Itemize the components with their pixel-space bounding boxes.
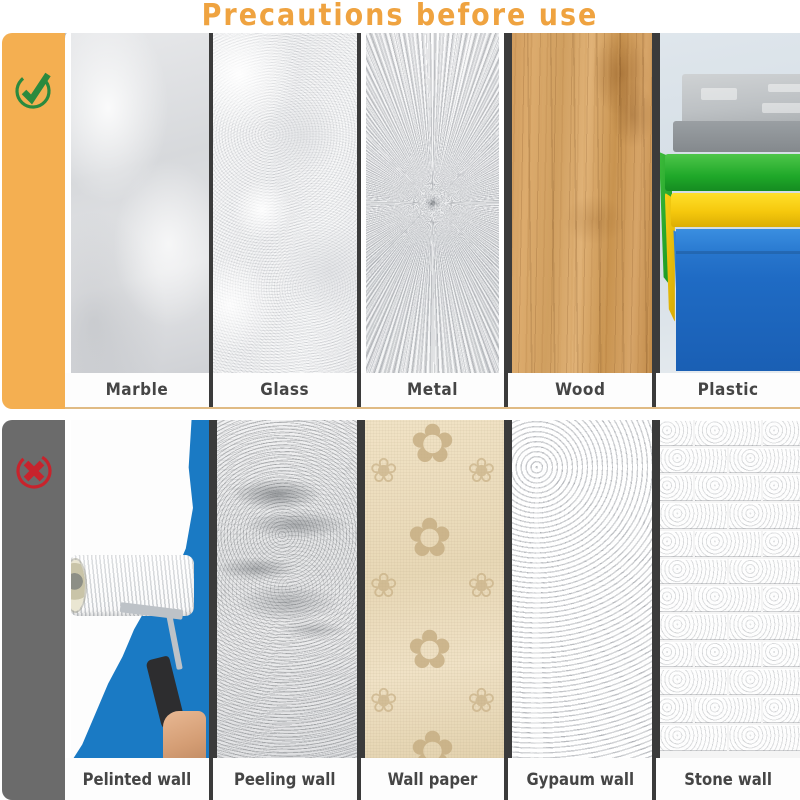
label-glass: Glass <box>213 373 357 407</box>
wood-frame <box>508 33 652 373</box>
label-wood: Wood <box>508 373 652 407</box>
swatch-stone-wall <box>656 420 800 758</box>
swatch-plastic <box>656 33 800 373</box>
plastic-frame <box>656 33 800 373</box>
swatch-wood <box>508 33 652 373</box>
peeling-wall-frame <box>213 420 357 758</box>
gypsum-wall-frame <box>508 420 652 758</box>
label-plastic: Plastic <box>656 373 800 407</box>
swatch-marble <box>65 33 209 373</box>
swatch-peeling-wall <box>213 420 357 758</box>
page-title: Precautions before use <box>0 0 800 33</box>
label-marble: Marble <box>65 373 209 407</box>
infographic-root: Precautions before use Applicable <box>0 0 800 800</box>
label-row-applicable: Marble Glass Metal Wood Plastic <box>65 373 800 407</box>
label-metal: Metal <box>361 373 505 407</box>
label-gypsum-wall: Gypaum wall <box>508 758 652 800</box>
panel-applicable: Marble Glass Metal Wood Plastic <box>65 33 800 409</box>
swatch-painted-wall <box>65 420 209 758</box>
swatch-glass <box>213 33 357 373</box>
stone-wall-frame <box>656 420 800 758</box>
check-circle-icon <box>13 69 55 111</box>
swatch-metal <box>361 33 505 373</box>
label-stone-wall: Stone wall <box>656 758 800 800</box>
section-applicable: Applicable <box>0 33 800 409</box>
swatch-gypsum-wall <box>508 420 652 758</box>
label-wall-paper: Wall paper <box>361 758 505 800</box>
image-row-not-applicable: ✿ ❀ ❀ ✿ ❀ ❀ ✿ ❀ ❀ ✿ <box>65 420 800 758</box>
sidebar-applicable: Applicable <box>2 33 65 409</box>
painted-wall-frame <box>65 420 209 758</box>
label-painted-wall: Pelinted wall <box>65 758 209 800</box>
section-not-applicable: Not Applicable <box>0 420 800 800</box>
x-circle-icon <box>13 450 55 492</box>
metal-frame <box>361 33 505 373</box>
sidebar-not-applicable: Not Applicable <box>2 420 65 800</box>
swatch-wallpaper: ✿ ❀ ❀ ✿ ❀ ❀ ✿ ❀ ❀ ✿ <box>361 420 505 758</box>
marble-frame <box>65 33 209 373</box>
label-row-not-applicable: Pelinted wall Peeling wall Wall paper Gy… <box>65 758 800 800</box>
image-row-applicable <box>65 33 800 373</box>
label-peeling-wall: Peeling wall <box>213 758 357 800</box>
wallpaper-frame <box>361 420 505 758</box>
panel-not-applicable: ✿ ❀ ❀ ✿ ❀ ❀ ✿ ❀ ❀ ✿ <box>65 420 800 800</box>
